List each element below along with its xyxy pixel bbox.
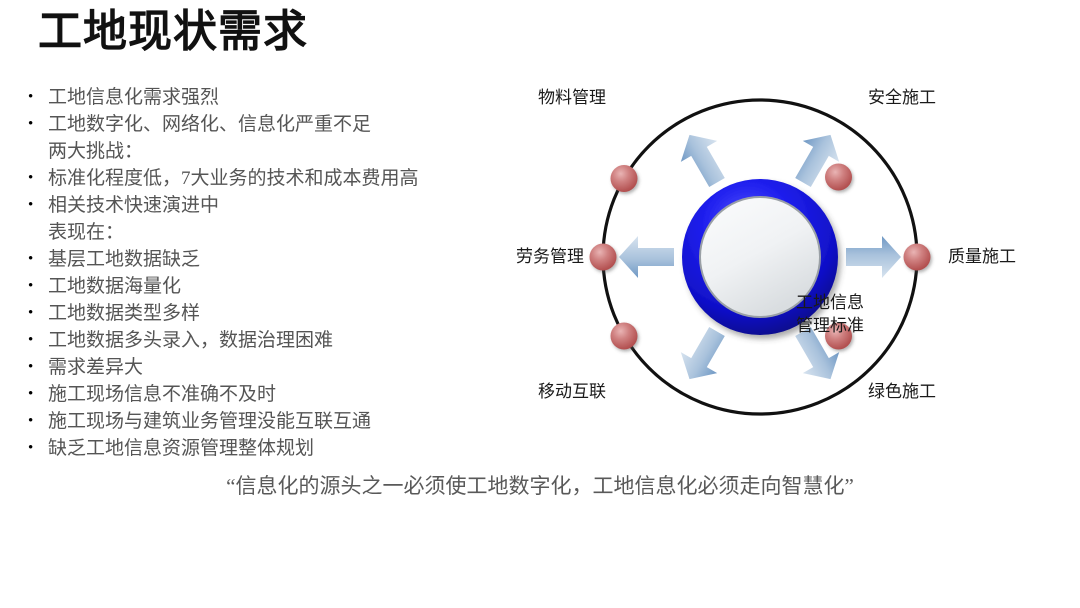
center-hub-label-line2: 管理标准 [760, 314, 900, 337]
center-hub-label: 工地信息 管理标准 [760, 291, 900, 337]
bullet-icon: • [28, 327, 48, 354]
arrow-down-left-icon [671, 321, 735, 390]
arrow-right-icon [846, 236, 901, 278]
footer-quote: “信息化的源头之一必须使工地数字化，工地信息化必须走向智慧化” [0, 471, 1080, 501]
bullet-icon: • [28, 435, 48, 462]
arrow-up-left-icon [671, 124, 735, 193]
list-item-label: 相关技术快速演进中 [48, 192, 219, 219]
node-sphere-zhiliang [904, 244, 931, 271]
list-item: • 工地数据多头录入，数据治理困难 [28, 327, 498, 354]
node-label-yidong-hulian: 移动互联 [506, 382, 606, 402]
list-item: • 相关技术快速演进中 [28, 192, 498, 219]
bullet-icon: • [28, 354, 48, 381]
bullet-icon: • [28, 111, 48, 138]
list-item: 表现在： [28, 219, 498, 246]
node-sphere-yidong [611, 323, 638, 350]
node-label-laowu-guanli: 劳务管理 [484, 247, 584, 267]
list-item: • 基层工地数据缺乏 [28, 246, 498, 273]
list-item-label: 缺乏工地信息资源管理整体规划 [48, 435, 314, 462]
list-item: • 需求差异大 [28, 354, 498, 381]
list-item-label: 基层工地数据缺乏 [48, 246, 200, 273]
bullet-list: • 工地信息化需求强烈 • 工地数字化、网络化、信息化严重不足 两大挑战： • … [28, 84, 498, 462]
list-item: • 工地数据海量化 [28, 273, 498, 300]
arrow-left-icon [619, 236, 674, 278]
list-item-label: 工地数据海量化 [48, 273, 181, 300]
node-sphere-anquan [825, 164, 852, 191]
list-item: • 工地信息化需求强烈 [28, 84, 498, 111]
list-item: • 施工现场与建筑业务管理没能互联互通 [28, 408, 498, 435]
list-item-label: 工地数据类型多样 [48, 300, 200, 327]
bullet-icon: • [28, 300, 48, 327]
bullet-icon: • [28, 381, 48, 408]
bullet-icon: • [28, 165, 48, 192]
list-item: • 施工现场信息不准确不及时 [28, 381, 498, 408]
list-item-label: 工地数据多头录入，数据治理困难 [48, 327, 333, 354]
node-label-lvse-shigong: 绿色施工 [868, 382, 968, 402]
page-title: 工地现状需求 [38, 6, 308, 58]
list-item-label: 标准化程度低，7大业务的技术和成本费用高 [48, 165, 419, 192]
node-sphere-laowu [590, 244, 617, 271]
list-item-label: 工地数字化、网络化、信息化严重不足 [48, 111, 371, 138]
list-item: • 缺乏工地信息资源管理整体规划 [28, 435, 498, 462]
node-label-wuliao-guanli: 物料管理 [506, 88, 606, 108]
bullet-icon: • [28, 84, 48, 111]
node-label-anquan-shigong: 安全施工 [868, 88, 968, 108]
list-item-label: 需求差异大 [48, 354, 143, 381]
slide-canvas: 工地现状需求 • 工地信息化需求强烈 • 工地数字化、网络化、信息化严重不足 两… [0, 0, 1080, 608]
list-item: 两大挑战： [28, 138, 498, 165]
bullet-icon: • [28, 408, 48, 435]
radial-diagram: 工地信息 管理标准 物料管理 安全施工 劳务管理 质量施工 移动互联 绿色施工 [470, 55, 1080, 465]
list-item-label: 施工现场信息不准确不及时 [48, 381, 276, 408]
list-item: • 标准化程度低，7大业务的技术和成本费用高 [28, 165, 498, 192]
node-sphere-wuliao [611, 165, 638, 192]
node-label-zhiliang-shigong: 质量施工 [948, 247, 1048, 267]
list-item-label: 施工现场与建筑业务管理没能互联互通 [48, 408, 371, 435]
list-item-label: 工地信息化需求强烈 [48, 84, 219, 111]
list-item: • 工地数据类型多样 [28, 300, 498, 327]
list-item-label: 两大挑战： [48, 138, 143, 165]
bullet-icon: • [28, 192, 48, 219]
list-item-label: 表现在： [48, 219, 124, 246]
bullet-icon: • [28, 273, 48, 300]
list-item: • 工地数字化、网络化、信息化严重不足 [28, 111, 498, 138]
center-hub-label-line1: 工地信息 [760, 291, 900, 314]
bullet-icon: • [28, 246, 48, 273]
